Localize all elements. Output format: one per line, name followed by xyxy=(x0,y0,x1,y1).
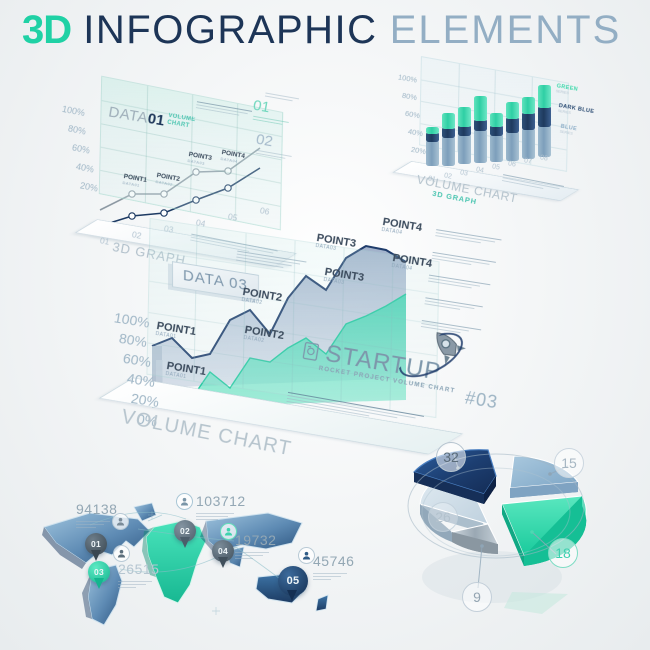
pie-label-26-value: 26 xyxy=(435,509,451,525)
chart1-xtick-4: 05 xyxy=(227,211,238,223)
map-pin-03-tip xyxy=(94,576,104,589)
chart2-bar-04 xyxy=(474,97,487,163)
chart2-bar-08 xyxy=(538,86,551,157)
map-pin-05[interactable]: 05 xyxy=(278,566,308,604)
chart2-bar-05 xyxy=(490,114,503,162)
chart1-legend-02-number: 02 xyxy=(255,131,274,151)
chart1-ytick-2: 60% xyxy=(71,142,91,155)
chart1-legend-01: 01 xyxy=(252,97,272,118)
title-part-elements: ELEMENTS xyxy=(390,8,622,52)
chart2-xtick-5: 06 xyxy=(507,160,516,168)
chart-pie-3d: 32 15 18 26 9 xyxy=(392,442,624,632)
rocket-document-icon xyxy=(301,341,321,366)
map-stat-05: 45746 xyxy=(313,553,354,580)
map-user-icon-04 xyxy=(220,523,237,540)
map-pin-01-tip xyxy=(91,548,101,561)
pie-label-26: 26 xyxy=(428,502,458,532)
chart1-xtick-5: 06 xyxy=(259,205,270,217)
map-pin-03[interactable]: 03 xyxy=(88,561,110,590)
person-icon xyxy=(224,527,233,536)
pie-label-32: 32 xyxy=(436,442,466,472)
chart2-ytick-2: 60% xyxy=(404,109,420,120)
map-stat-03: 26515 xyxy=(118,561,159,588)
infographic-canvas: 3D INFOGRAPHIC ELEMENTS DATA01VOLUMECHAR… xyxy=(0,0,650,650)
map-stat-02-value: 103712 xyxy=(196,493,246,509)
person-icon xyxy=(116,517,125,526)
chart2-bar-01 xyxy=(426,128,439,166)
chart2-ytick-0: 100% xyxy=(397,72,417,84)
pie-chart-svg xyxy=(392,442,624,632)
map-pin-05-tip xyxy=(287,588,297,601)
chart1-xtick-0: 01 xyxy=(99,235,110,247)
chart1-legend-01-number: 01 xyxy=(252,97,271,117)
map-stat-04: 19732 xyxy=(235,532,276,559)
person-icon xyxy=(117,549,126,558)
person-icon xyxy=(180,497,189,506)
pie-label-18: 18 xyxy=(548,538,578,568)
map-stat-01-value: 94138 xyxy=(76,501,117,517)
map-user-icon-01 xyxy=(112,513,129,530)
map-user-icon-02 xyxy=(176,493,193,510)
chart2-bar-02 xyxy=(442,114,455,166)
chart2-ytick-1: 80% xyxy=(401,91,417,102)
chart2-bar-03 xyxy=(458,108,471,164)
map-pin-01[interactable]: 01 xyxy=(85,533,107,562)
chart1-legend-02: 02 xyxy=(255,131,275,152)
map-stat-05-value: 45746 xyxy=(313,553,354,569)
map-stat-03-value: 26515 xyxy=(118,561,159,577)
chart1-ytick-1: 80% xyxy=(67,123,87,136)
chart2-xtick-3: 04 xyxy=(475,166,484,174)
world-map-infographic: 01 94138 02 103712 03 26515 xyxy=(30,485,375,635)
chart2-bar-06 xyxy=(506,103,519,161)
chart2-xtick-6: 07 xyxy=(523,157,532,165)
chart2-xtick-7: 08 xyxy=(539,154,548,162)
title-part-3d: 3D xyxy=(22,8,71,52)
map-user-icon-05 xyxy=(298,547,315,564)
chart2-ytick-4: 20% xyxy=(410,145,426,156)
pie-label-15: 15 xyxy=(554,448,584,478)
chart1-title-number: 01 xyxy=(146,110,165,130)
chart-volume-bars: 100% 80% 60% 40% 20% xyxy=(392,62,602,207)
page-title: 3D INFOGRAPHIC ELEMENTS xyxy=(22,8,621,53)
chart2-bar-07 xyxy=(522,98,535,159)
chart-startup-volume: 100% 80% 60% 40% 20% 0% DATA 03 POINT1 D… xyxy=(110,228,540,468)
map-stat-02: 103712 xyxy=(196,493,246,520)
map-stat-01: 94138 xyxy=(76,501,117,528)
pie-label-15-value: 15 xyxy=(561,455,577,471)
map-pin-02[interactable]: 02 xyxy=(174,520,196,549)
pie-label-9: 9 xyxy=(462,582,492,612)
chart2-ytick-3: 40% xyxy=(407,127,423,138)
pie-label-9-value: 9 xyxy=(473,589,481,605)
map-pin-02-tip xyxy=(180,535,190,548)
pie-label-32-value: 32 xyxy=(443,449,459,465)
chart2-xtick-2: 03 xyxy=(459,169,468,177)
person-icon xyxy=(302,551,311,560)
pie-label-18-value: 18 xyxy=(555,545,571,561)
chart2-xtick-4: 05 xyxy=(491,163,500,171)
title-part-infographic: INFOGRAPHIC xyxy=(83,8,377,52)
rocket-document-icon-svg xyxy=(302,341,321,361)
map-user-icon-03 xyxy=(113,545,130,562)
map-pin-04[interactable]: 04 xyxy=(212,540,234,569)
map-stat-04-value: 19732 xyxy=(235,532,276,548)
map-pin-04-tip xyxy=(218,555,228,568)
